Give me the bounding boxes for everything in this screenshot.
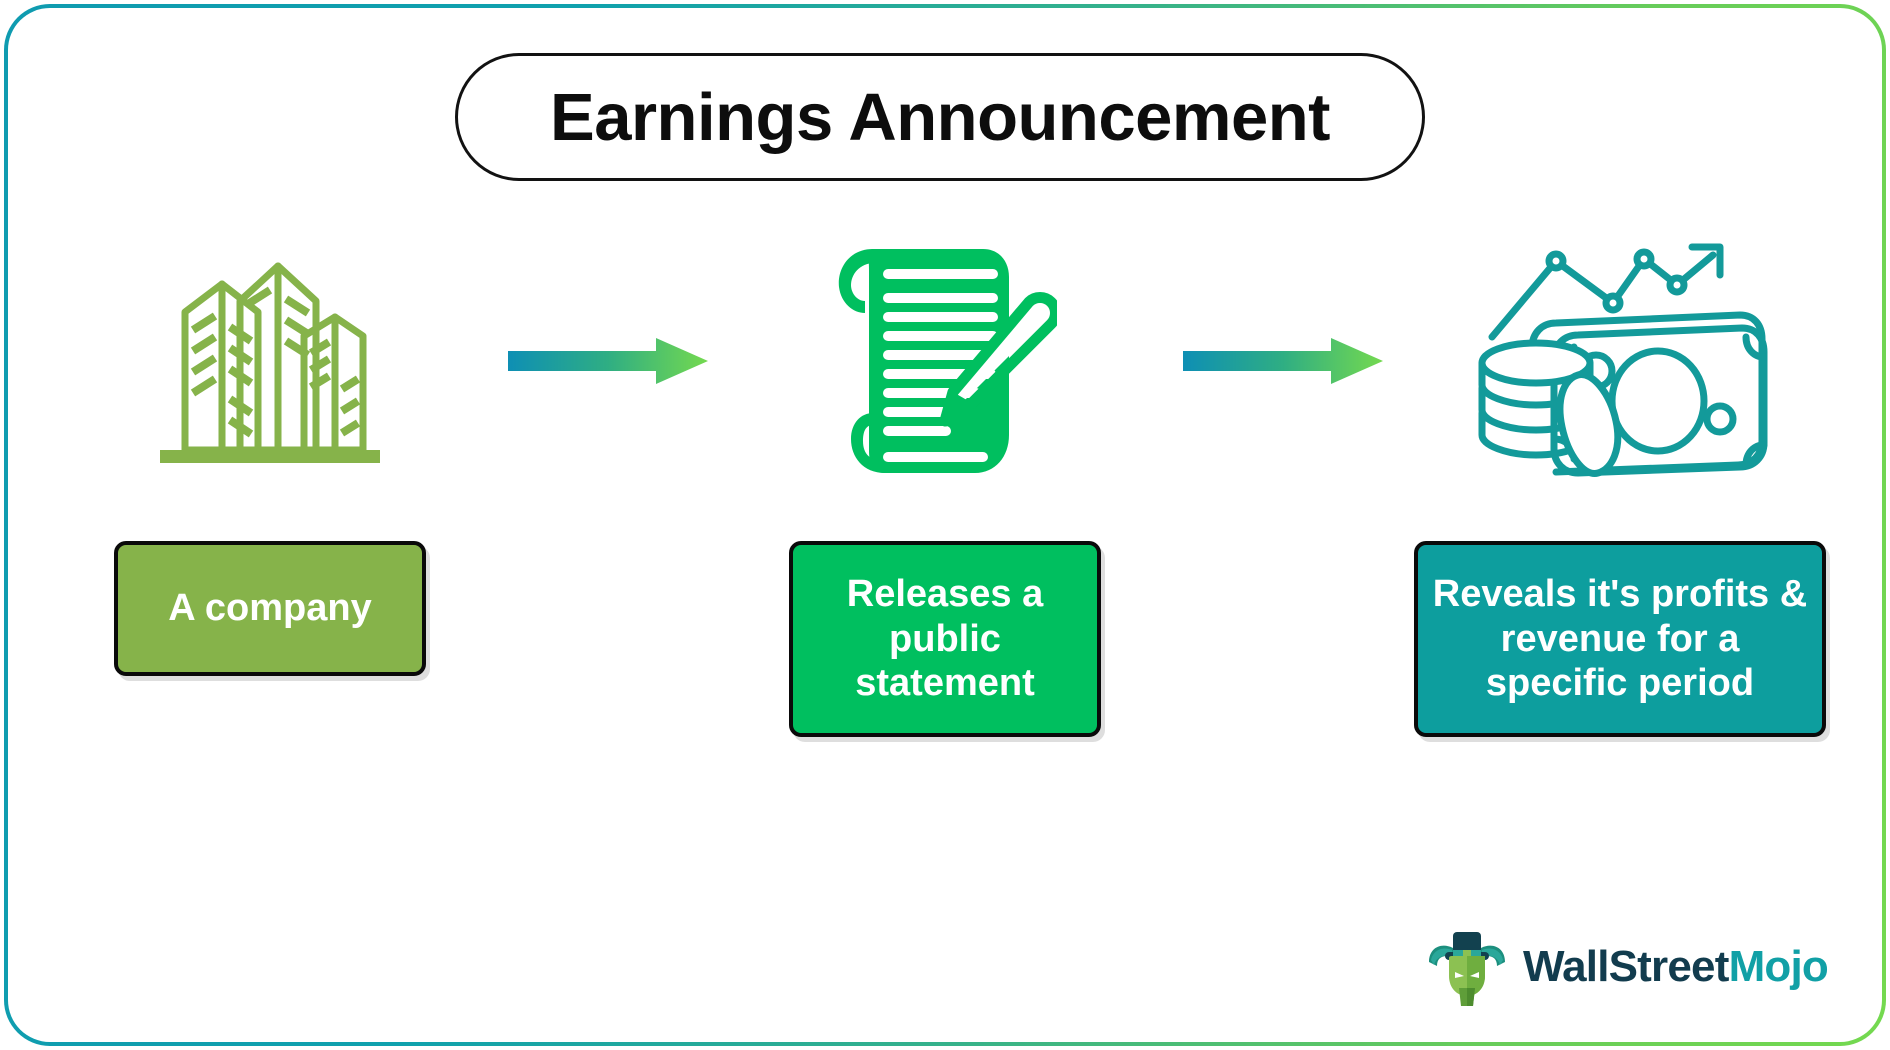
step-label-box-statement: Releases a public statement bbox=[789, 541, 1101, 737]
step-label-box-reveal: Reveals it's profits & revenue for a spe… bbox=[1414, 541, 1826, 737]
flow-step-company: A company bbox=[70, 228, 470, 676]
gradient-arrow-right-icon bbox=[508, 338, 708, 384]
brand-logo[interactable]: WallStreetMojo bbox=[1425, 926, 1828, 1008]
page-title: Earnings Announcement bbox=[550, 79, 1330, 156]
step-label-box-company: A company bbox=[114, 541, 426, 676]
brand-logo-text: WallStreetMojo bbox=[1523, 942, 1828, 992]
wallstreetmojo-bull-logo-icon bbox=[1425, 926, 1509, 1008]
scroll-with-pen-icon bbox=[833, 228, 1057, 493]
office-buildings-icon bbox=[152, 228, 388, 493]
step-label-text: Releases a public statement bbox=[807, 572, 1083, 706]
flow-step-reveal: Reveals it's profits & revenue for a spe… bbox=[1420, 228, 1820, 737]
money-growth-chart-icon bbox=[1470, 228, 1770, 493]
earnings-announcement-infographic: Earnings Announcement bbox=[0, 0, 1890, 1050]
page-title-pill: Earnings Announcement bbox=[455, 53, 1425, 181]
brand-name-primary: WallStreet bbox=[1523, 942, 1729, 991]
brand-name-accent: Mojo bbox=[1729, 942, 1828, 991]
flow-arrow-2 bbox=[1178, 228, 1388, 384]
flow-step-statement: Releases a public statement bbox=[745, 228, 1145, 737]
gradient-arrow-right-icon bbox=[1183, 338, 1383, 384]
flow-arrow-1 bbox=[503, 228, 713, 384]
process-flow: A company bbox=[70, 228, 1820, 788]
step-label-text: Reveals it's profits & revenue for a spe… bbox=[1430, 572, 1810, 706]
step-label-text: A company bbox=[168, 586, 371, 631]
